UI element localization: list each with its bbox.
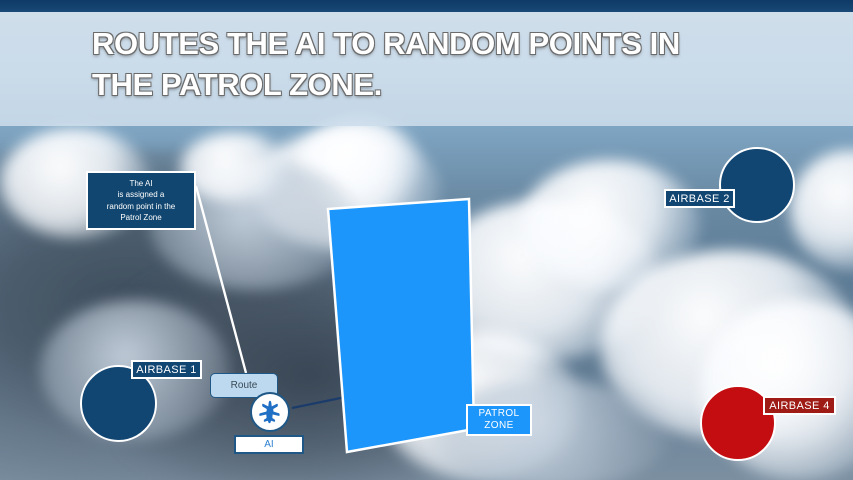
ai-avatar[interactable]: [250, 392, 290, 432]
airbase-2-marker[interactable]: [719, 147, 795, 223]
ai-label[interactable]: AI: [234, 435, 304, 454]
callout-box: The AI is assigned a random point in the…: [86, 171, 196, 230]
airbase-1-label[interactable]: AIRBASE 1: [131, 360, 202, 379]
fighter-jet-icon: [257, 399, 283, 425]
slide-canvas: ROUTES THE AI TO RANDOM POINTS IN THE PA…: [0, 0, 853, 480]
patrol-zone-shape: [328, 199, 474, 452]
airbase-2-label[interactable]: AIRBASE 2: [664, 189, 735, 208]
airbase-4-label[interactable]: AIRBASE 4: [763, 396, 836, 415]
patrol-zone-label[interactable]: PATROL ZONE: [466, 404, 532, 436]
